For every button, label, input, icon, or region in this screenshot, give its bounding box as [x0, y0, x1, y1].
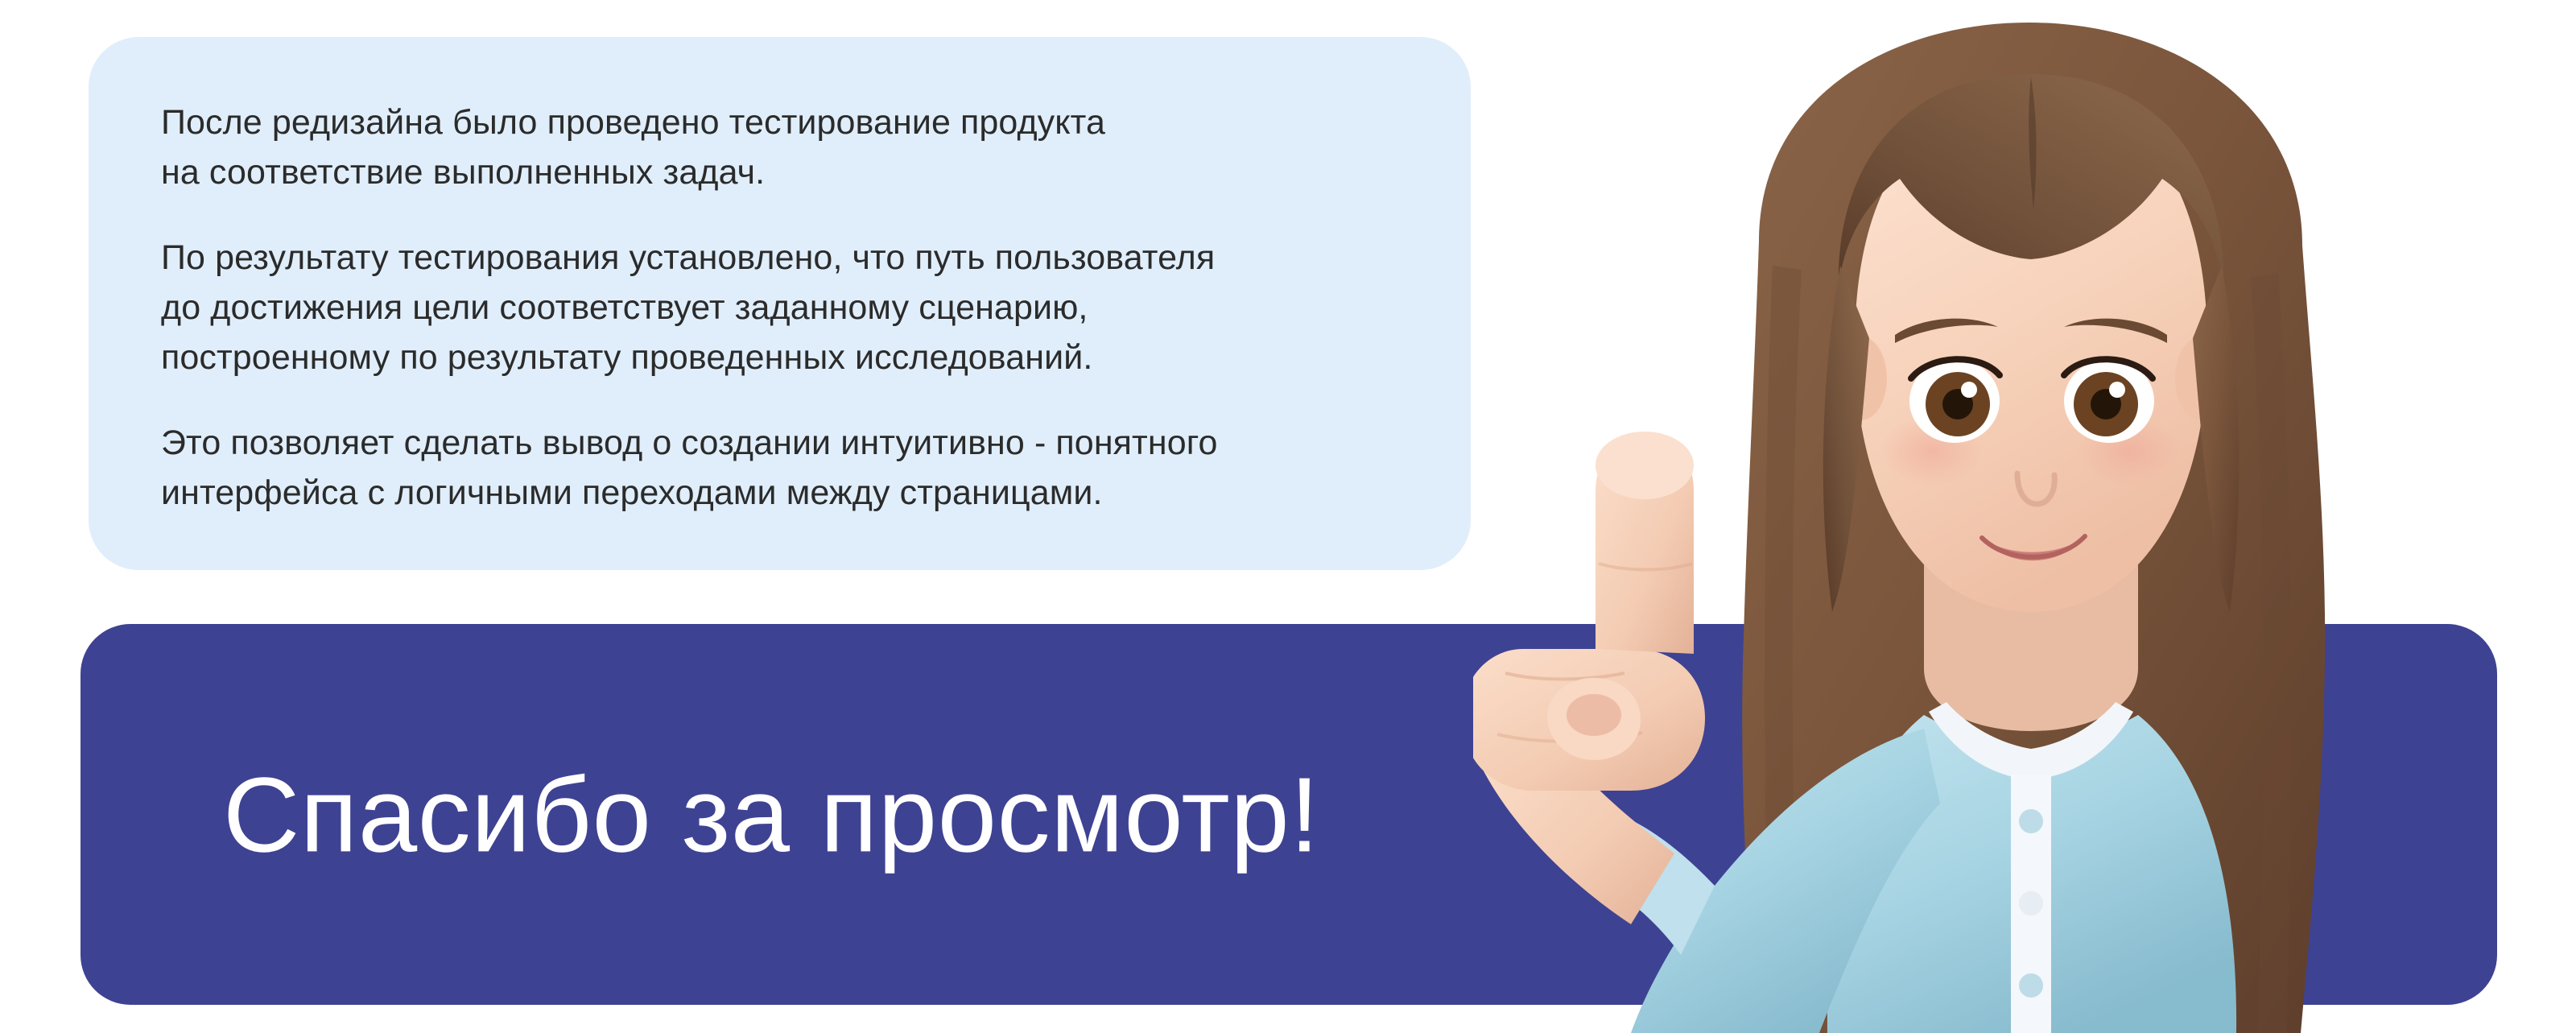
finger-joint-crease: [1599, 564, 1692, 570]
thank-you-title: Спасибо за просмотр!: [223, 756, 1319, 873]
cheek-blush-right: [2079, 415, 2182, 486]
summary-card: После редизайна было проведено тестирова…: [89, 37, 1471, 570]
mouth-line: [1982, 536, 2085, 557]
mouth: [1982, 536, 2085, 560]
head: [1855, 97, 2207, 612]
hair-lock-right: [2193, 266, 2239, 612]
summary-paragraph-3: Это позволяет сделать вывод о создании и…: [161, 418, 1398, 518]
hair-part-line: [2029, 77, 2036, 209]
summary-paragraph-2: По результату тестирования установлено, …: [161, 233, 1398, 382]
hair-lock-left: [1823, 266, 1869, 612]
index-finger: [1596, 435, 1694, 654]
eyebrow-right: [2064, 319, 2167, 343]
presentation-slide: После редизайна было проведено тестирова…: [0, 0, 2576, 1033]
ear-left: [1835, 337, 1887, 420]
eyebrow-left: [1895, 319, 1998, 343]
nose: [2017, 473, 2054, 504]
hair-fringe: [1839, 74, 2223, 287]
ear-right: [2175, 337, 2227, 420]
eye-right: [2064, 359, 2154, 443]
summary-paragraph-1: После редизайна было проведено тестирова…: [161, 97, 1398, 197]
eye-left: [1909, 359, 2000, 443]
cheek-blush-left: [1880, 415, 1984, 486]
thank-you-banner: Спасибо за просмотр!: [80, 624, 2497, 1005]
fingertip: [1596, 432, 1694, 499]
